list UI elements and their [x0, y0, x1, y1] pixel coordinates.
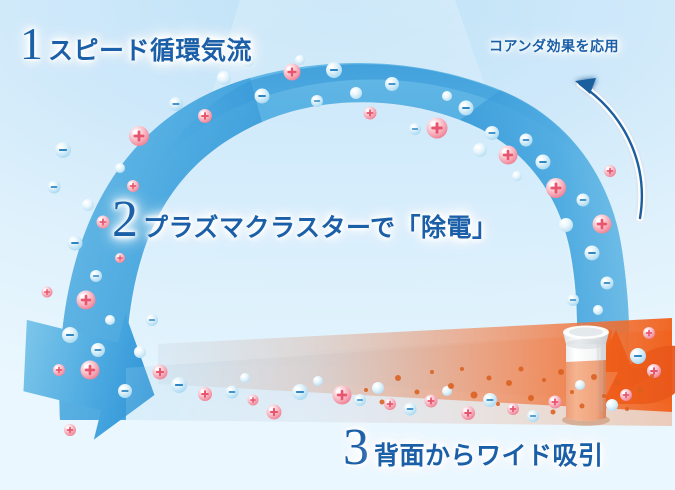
caption-text-1: スピード循環気流 [48, 37, 252, 65]
coanda-effect-label: コアンダ効果を応用 [489, 36, 619, 56]
ion-bubble-neutral [105, 315, 115, 325]
ion-bubble-neutral [442, 91, 452, 101]
ion-particle-plus [267, 405, 282, 420]
caption-text-3: 背面からワイド吸引 [374, 442, 604, 470]
dust-particle [487, 376, 492, 381]
ion-bubble-neutral [240, 373, 250, 383]
ion-particle-minus [326, 62, 342, 78]
ion-particle-minus [520, 134, 533, 147]
ion-particle-plus [647, 364, 661, 378]
ion-particle-plus [507, 403, 519, 415]
diagram-canvas: 1 スピード循環気流 2 プラズマクラスターで「除電」 3 背面からワイド吸引 … [0, 0, 675, 490]
dust-particle [430, 370, 434, 374]
ion-particle-minus [90, 270, 102, 282]
ion-particle-minus [385, 77, 399, 91]
ion-particle-plus [549, 396, 562, 409]
ion-particle-plus [198, 387, 212, 401]
dust-particle [625, 407, 629, 411]
ion-particle-plus [425, 395, 438, 408]
ion-particle-plus [64, 424, 76, 436]
ion-particle-plus [284, 64, 301, 81]
ion-particle-plus [42, 287, 53, 298]
dust-particle [591, 374, 597, 380]
ion-particle-plus [593, 215, 612, 234]
ion-bubble-neutral [575, 380, 585, 390]
ion-particle-plus [643, 327, 655, 339]
dust-particle [460, 367, 464, 371]
ion-particle-plus [97, 216, 110, 229]
unit-outlet-grille [569, 328, 603, 337]
ion-particle-minus [91, 343, 105, 357]
ion-bubble-neutral [313, 376, 323, 386]
ion-particle-plus [461, 406, 475, 420]
ion-particle-plus [384, 398, 396, 410]
dust-particle [496, 402, 500, 406]
caption-number-1: 1 [20, 24, 43, 64]
ion-particle-minus [118, 384, 132, 398]
caption-speed-circulation-airflow: 1 スピード循環気流 [20, 24, 252, 65]
dust-particle [551, 410, 556, 415]
ion-particle-plus [333, 386, 352, 405]
ion-bubble-neutral [512, 171, 522, 181]
ion-bubble-neutral [295, 55, 305, 65]
ion-particle-plus [620, 389, 632, 401]
ion-particle-minus [62, 327, 78, 343]
dust-particle [542, 378, 546, 382]
ion-particle-minus [311, 95, 323, 107]
ion-particle-minus [567, 294, 579, 306]
ion-bubble-neutral [372, 382, 384, 394]
ion-particle-minus [171, 377, 187, 393]
ion-particle-plus [546, 178, 566, 198]
dust-particle [380, 400, 385, 405]
caption-number-2: 2 [112, 200, 138, 240]
ion-particle-minus [354, 394, 366, 406]
ion-particle-minus [485, 126, 499, 140]
dust-particle [615, 381, 620, 386]
ion-particle-minus [483, 393, 497, 407]
ion-particle-minus [146, 314, 158, 326]
caption-plasmacluster-destatic: 2 プラズマクラスターで「除電」 [112, 200, 498, 242]
ion-bubble-neutral [473, 143, 487, 157]
ion-particle-minus [409, 123, 421, 135]
dust-particle [580, 404, 585, 409]
ion-particle-minus [404, 403, 417, 416]
caption-wide-rear-intake: 3 背面からワイド吸引 [343, 428, 604, 470]
ion-bubble-neutral [350, 87, 362, 99]
airflow-illustration [0, 0, 675, 490]
dust-particle [558, 369, 564, 375]
ion-particle-plus [364, 107, 377, 120]
dust-particle [364, 388, 368, 392]
ion-particle-plus [115, 253, 125, 263]
dust-particle [506, 380, 512, 386]
dust-particle [448, 383, 454, 389]
dust-particle [602, 394, 606, 398]
ion-particle-minus [55, 142, 71, 158]
ion-particle-plus [153, 365, 168, 380]
ion-bubble-neutral [593, 305, 603, 315]
ion-particle-minus [601, 277, 614, 290]
ion-particle-minus [226, 386, 239, 399]
ion-particle-plus [77, 291, 96, 310]
ion-particle-plus [427, 118, 448, 139]
caption-text-2: プラズマクラスターで「除電」 [143, 214, 498, 242]
ion-bubble-neutral [559, 218, 573, 232]
ion-particle-minus [630, 348, 646, 364]
ion-particle-minus [292, 384, 308, 400]
dust-particle [415, 390, 420, 395]
ion-particle-minus [255, 89, 270, 104]
ion-particle-plus [81, 361, 100, 380]
ion-bubble-neutral [82, 199, 94, 211]
ion-particle-plus [499, 146, 518, 165]
ion-particle-minus [536, 155, 551, 170]
ion-particle-plus [129, 126, 149, 146]
ion-particle-minus [48, 181, 61, 194]
ion-particle-minus [459, 101, 474, 116]
ion-particle-plus [198, 109, 212, 123]
dust-particle [395, 375, 401, 381]
ion-particle-plus [248, 395, 259, 406]
caption-number-3: 3 [343, 428, 369, 468]
dust-particle [519, 367, 524, 372]
dust-particle [471, 392, 478, 399]
unit-cap-base [566, 339, 606, 349]
ion-bubble-neutral [134, 346, 146, 358]
dust-particle [570, 390, 574, 394]
dust-particle [528, 395, 534, 401]
ion-particle-minus [577, 194, 590, 207]
ion-particle-plus [53, 364, 65, 376]
ion-particle-minus [68, 236, 83, 251]
ion-bubble-neutral [115, 163, 125, 173]
ion-particle-minus [527, 410, 539, 422]
dust-particle [650, 374, 654, 378]
ion-bubble-neutral [606, 399, 618, 411]
dust-particle [637, 387, 643, 393]
ion-particle-plus [604, 165, 616, 177]
air-purifier-tower-unit [562, 326, 610, 427]
ion-particle-minus [169, 97, 183, 111]
ion-bubble-neutral [217, 71, 231, 85]
ion-particle-minus [585, 246, 600, 261]
